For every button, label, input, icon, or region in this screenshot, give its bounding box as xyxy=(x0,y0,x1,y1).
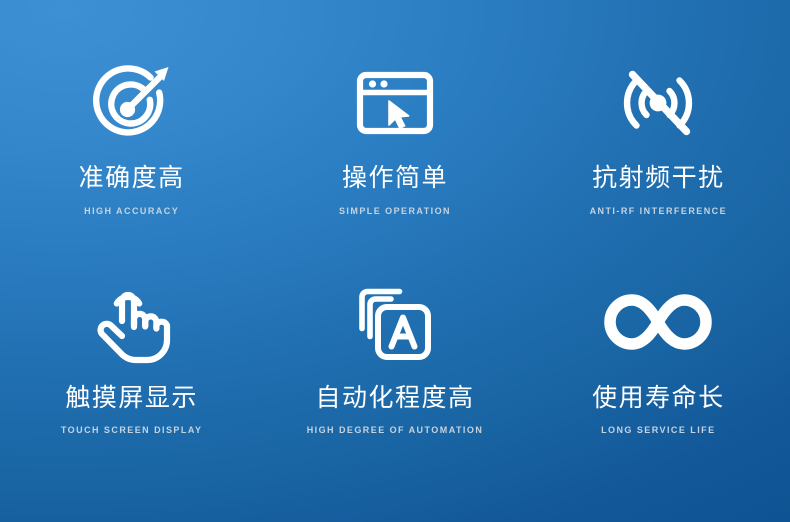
feature-item-touch-screen-display: 触摸屏显示 TOUCH SCREEN DISPLAY xyxy=(0,270,263,468)
features-banner: 准确度高 HIGH ACCURACY 操作简单 SIMPLE OPERATION xyxy=(0,0,790,522)
feature-subtitle: TOUCH SCREEN DISPLAY xyxy=(61,425,203,435)
feature-item-high-accuracy: 准确度高 HIGH ACCURACY xyxy=(0,52,263,270)
signal-slash-icon xyxy=(612,54,704,150)
feature-item-long-service-life: 使用寿命长 LONG SERVICE LIFE xyxy=(527,270,790,468)
infinity-icon xyxy=(604,274,712,370)
feature-item-simple-operation: 操作简单 SIMPLE OPERATION xyxy=(263,52,526,270)
feature-title: 操作简单 xyxy=(342,164,448,192)
feature-title: 使用寿命长 xyxy=(592,384,725,412)
feature-item-anti-rf-interference: 抗射频干扰 ANTI-RF INTERFERENCE xyxy=(527,52,790,270)
target-arrow-icon xyxy=(88,54,176,150)
feature-title: 触摸屏显示 xyxy=(65,384,198,412)
feature-subtitle: HIGH ACCURACY xyxy=(84,206,179,216)
layered-cards-letter-a-icon xyxy=(351,274,439,370)
browser-window-cursor-icon xyxy=(351,54,439,150)
feature-title: 抗射频干扰 xyxy=(592,164,725,192)
touch-hand-icon xyxy=(88,274,176,370)
feature-subtitle: SIMPLE OPERATION xyxy=(339,206,451,216)
feature-subtitle: HIGH DEGREE OF AUTOMATION xyxy=(307,425,484,435)
feature-subtitle: ANTI-RF INTERFERENCE xyxy=(590,206,728,216)
feature-title: 准确度高 xyxy=(79,164,185,192)
feature-item-high-degree-of-automation: 自动化程度高 HIGH DEGREE OF AUTOMATION xyxy=(263,270,526,468)
feature-subtitle: LONG SERVICE LIFE xyxy=(601,425,716,435)
features-grid: 准确度高 HIGH ACCURACY 操作简单 SIMPLE OPERATION xyxy=(0,0,790,522)
feature-title: 自动化程度高 xyxy=(315,384,474,412)
